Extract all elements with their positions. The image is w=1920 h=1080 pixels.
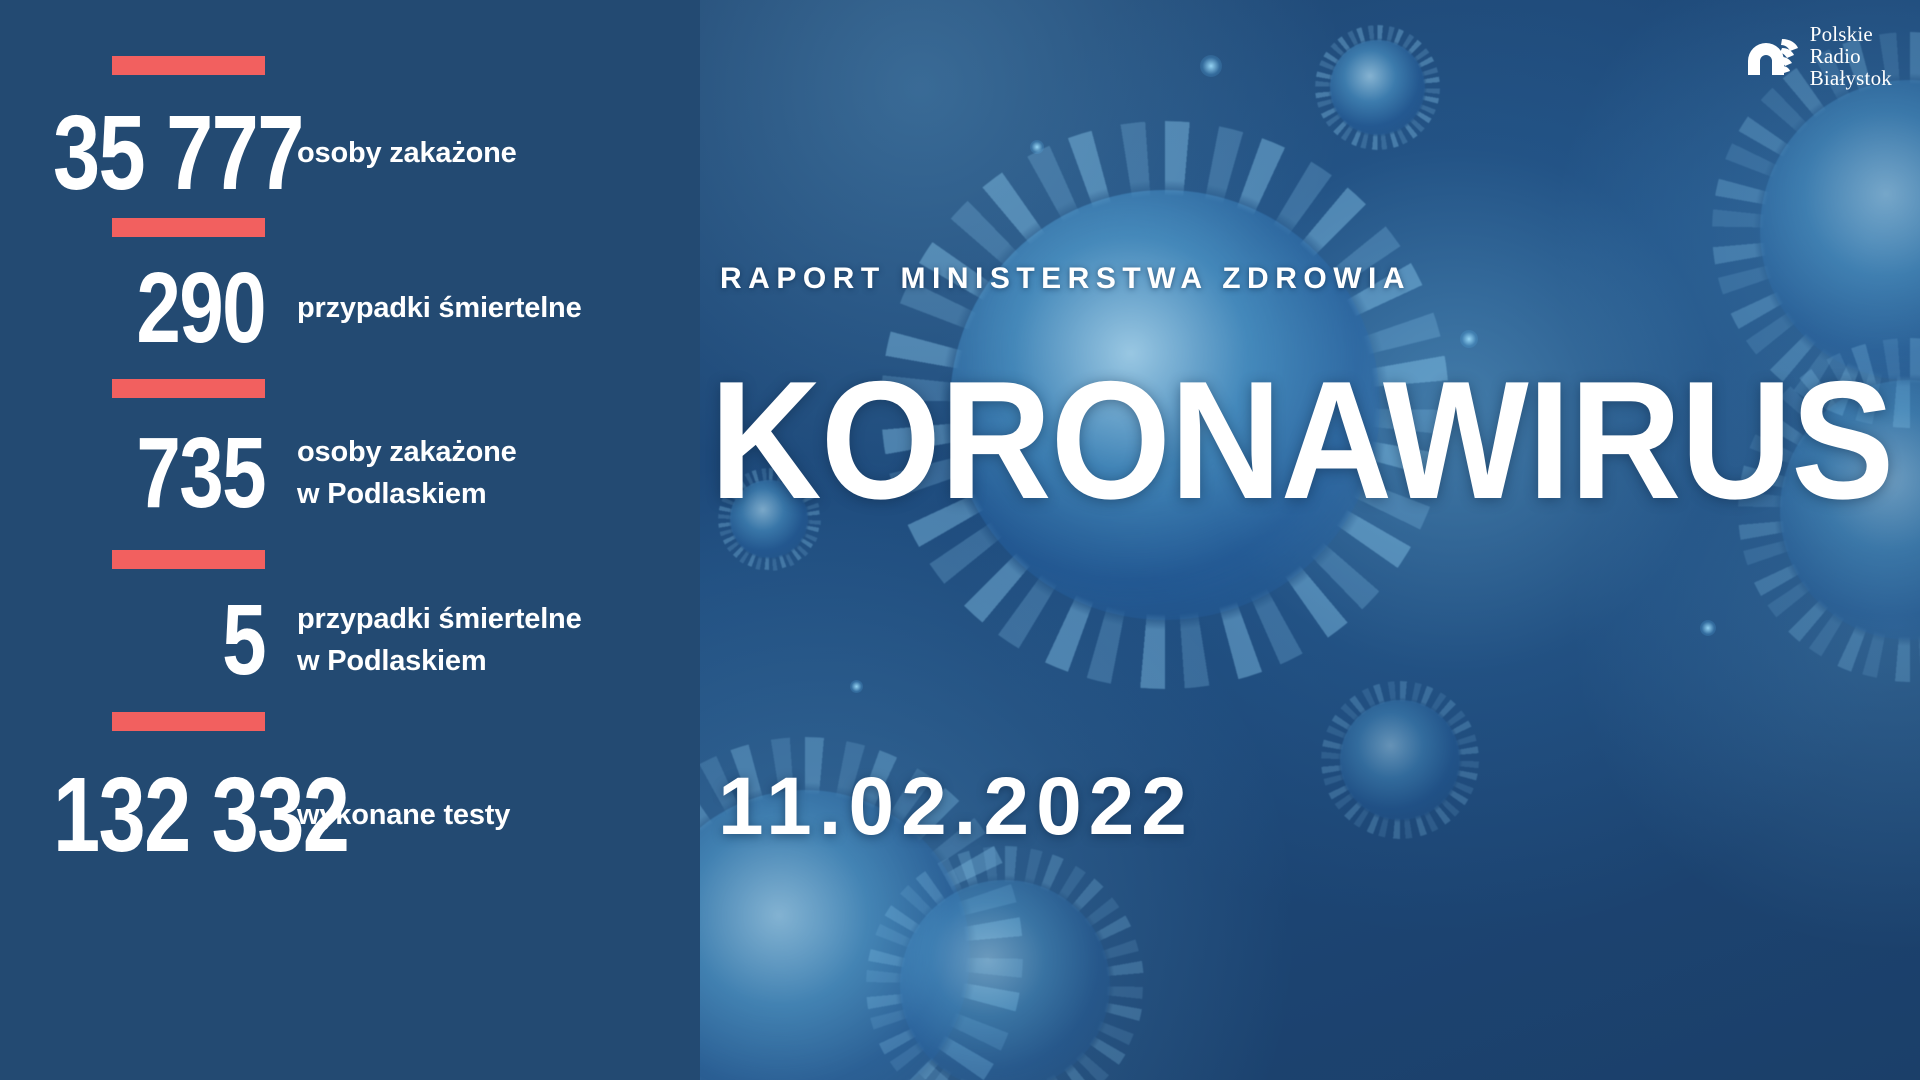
stat-value: 290 [53, 258, 265, 358]
stat-divider [112, 218, 265, 237]
polskie-radio-bialystok-logo[interactable]: Polskie Radio Białystok [1746, 24, 1892, 89]
stat-row: 290 przypadki śmiertelne [0, 258, 700, 358]
virus-particle-icon [900, 880, 1110, 1080]
stat-label: przypadki śmiertelne [297, 287, 582, 329]
stat-row: 35 777 osoby zakażone [0, 100, 700, 206]
stat-row: 735 osoby zakażone w Podlaskiem [0, 423, 700, 523]
stat-divider [112, 550, 265, 569]
hero-date: 11.02.2022 [718, 760, 1194, 854]
hero-title: KORONAWIRUS [710, 356, 1893, 524]
light-speck [1700, 620, 1716, 636]
virus-particle-icon [1760, 80, 1920, 380]
stat-row: 132 332 wykonane testy [0, 762, 700, 868]
stat-divider [112, 712, 265, 731]
light-speck [850, 680, 863, 693]
light-speck [1030, 140, 1044, 154]
hero-kicker: RAPORT MINISTERSTWA ZDROWIA [720, 262, 1411, 296]
stat-label: osoby zakażone w Podlaskiem [297, 431, 517, 515]
stats-panel: 35 777 osoby zakażone 290 przypadki śmie… [0, 0, 700, 1080]
stat-value: 5 [53, 590, 265, 690]
stat-label: osoby zakażone [297, 132, 517, 174]
light-speck [1200, 55, 1222, 77]
stat-value: 35 777 [53, 100, 265, 206]
stat-label: przypadki śmiertelne w Podlaskiem [297, 598, 582, 682]
virus-particle-icon [1330, 40, 1425, 135]
hero-image-panel: Polskie Radio Białystok RAPORT MINISTERS… [700, 0, 1920, 1080]
stat-row: 5 przypadki śmiertelne w Podlaskiem [0, 590, 700, 690]
stat-value: 735 [53, 423, 265, 523]
infographic-root: 35 777 osoby zakażone 290 przypadki śmie… [0, 0, 1920, 1080]
stat-divider [112, 379, 265, 398]
logo-wordmark: Polskie Radio Białystok [1810, 24, 1892, 89]
stat-divider [112, 56, 265, 75]
stat-value: 132 332 [53, 762, 265, 868]
radio-wave-icon [1746, 35, 1800, 79]
virus-particle-icon [1340, 700, 1460, 820]
